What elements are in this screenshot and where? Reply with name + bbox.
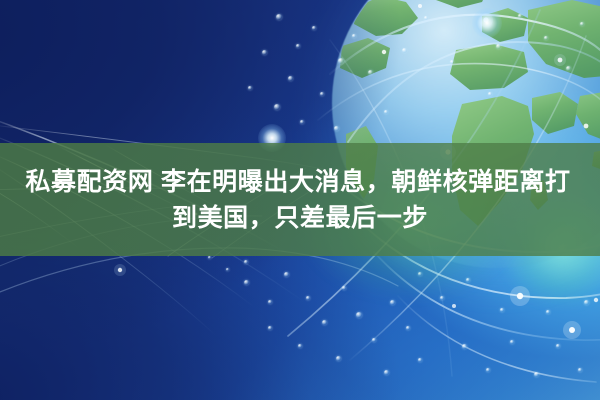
article-thumbnail-image: 私募配资网 李在明曝出大消息，朝鲜核弹距离打 到美国，只差最后一步 — [0, 0, 600, 400]
headline-line-1: 私募配资网 李在明曝出大消息，朝鲜核弹距离打 — [25, 165, 574, 199]
headline-block: 私募配资网 李在明曝出大消息，朝鲜核弹距离打 到美国，只差最后一步 — [0, 143, 600, 256]
headline-line-2: 到美国，只差最后一步 — [172, 201, 428, 235]
